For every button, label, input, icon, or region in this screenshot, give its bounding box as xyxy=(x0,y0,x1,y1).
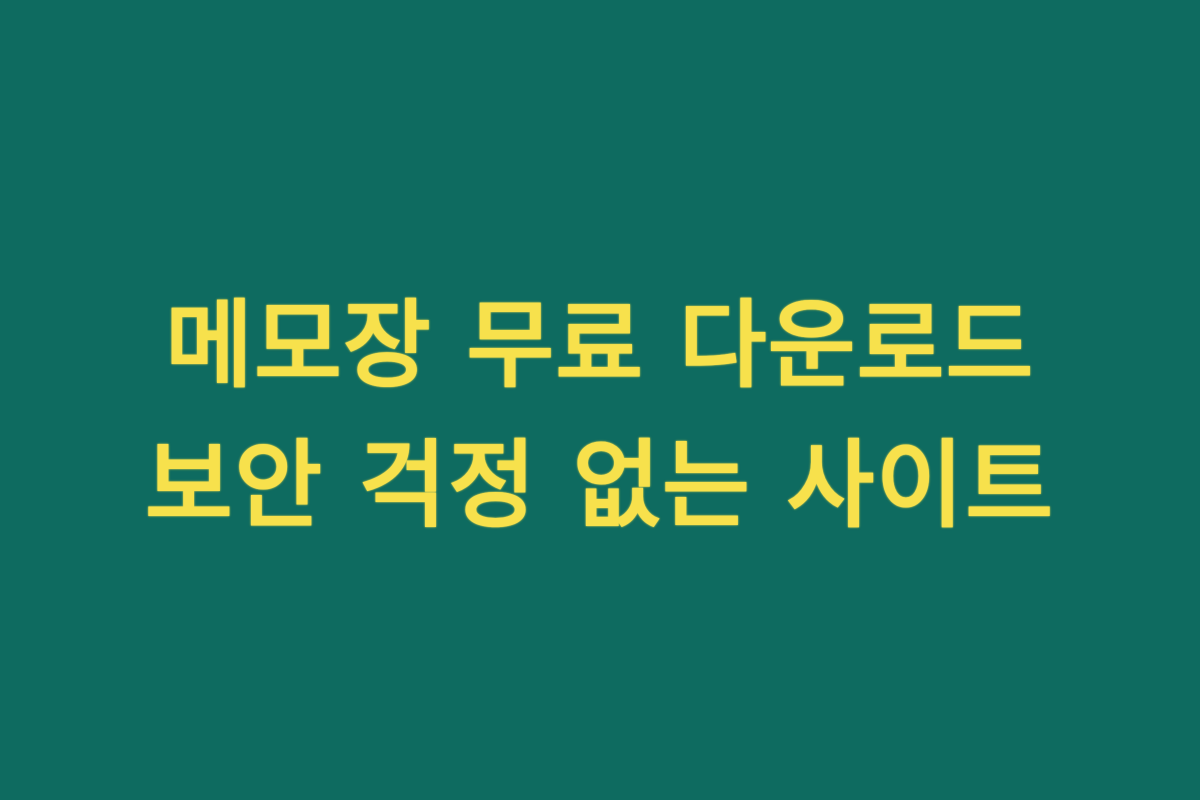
headline-block: 메모장 무료 다운로드 보안 걱정 없는 사이트 xyxy=(0,276,1200,556)
headline-line-2: 보안 걱정 없는 사이트 xyxy=(145,416,1055,556)
promo-banner: 메모장 무료 다운로드 보안 걱정 없는 사이트 xyxy=(0,0,1200,800)
headline-line-1: 메모장 무료 다운로드 xyxy=(165,276,1034,416)
